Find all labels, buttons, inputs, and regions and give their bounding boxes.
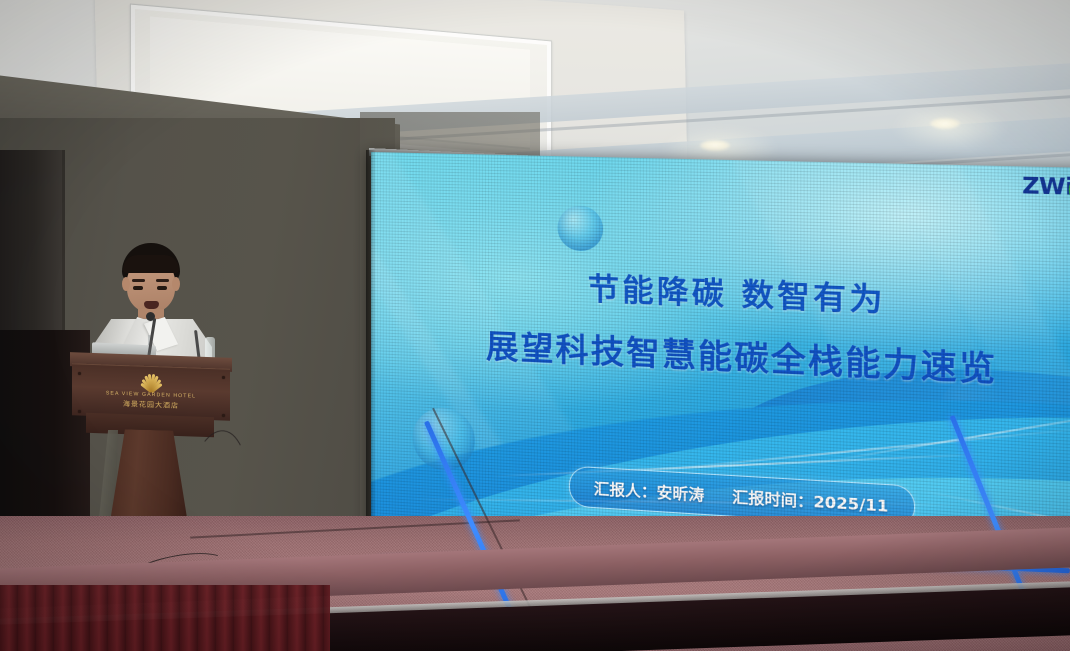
speaker-brow-left <box>132 279 145 282</box>
podium-bolt <box>78 372 81 375</box>
slide-orb <box>558 205 604 251</box>
podium-bolt <box>78 410 81 413</box>
speaker-hair-front <box>123 255 179 273</box>
logo-wordmark: ZWin <box>1022 173 1070 201</box>
hotel-emblem-icon <box>133 370 169 392</box>
screen-edge-shadow <box>366 150 376 550</box>
water-bottle <box>205 337 215 359</box>
speaker-eye-right <box>157 286 167 290</box>
presenter-label: 汇报人：安昕涛 <box>594 477 705 505</box>
podium-bolt <box>222 414 225 417</box>
downlight-glow <box>890 104 1010 150</box>
speaker-ear-right <box>172 277 180 291</box>
speaker-eye-left <box>133 286 143 290</box>
speaker-mouth <box>144 301 159 309</box>
date-label: 汇报时间：2025/11 <box>732 485 888 517</box>
speaker-ear-left <box>122 277 130 291</box>
company-logo: ZWin 展望 tec <box>1022 173 1070 202</box>
podium-bolt <box>222 376 225 379</box>
conference-room-photo: ZWin 展望 tec 节能降碳 数智有为 展望科技智慧能碳全栈能力速览 汇报人… <box>0 0 1070 651</box>
stage-skirt-red <box>0 585 330 651</box>
speaker-brow-right <box>156 279 169 282</box>
